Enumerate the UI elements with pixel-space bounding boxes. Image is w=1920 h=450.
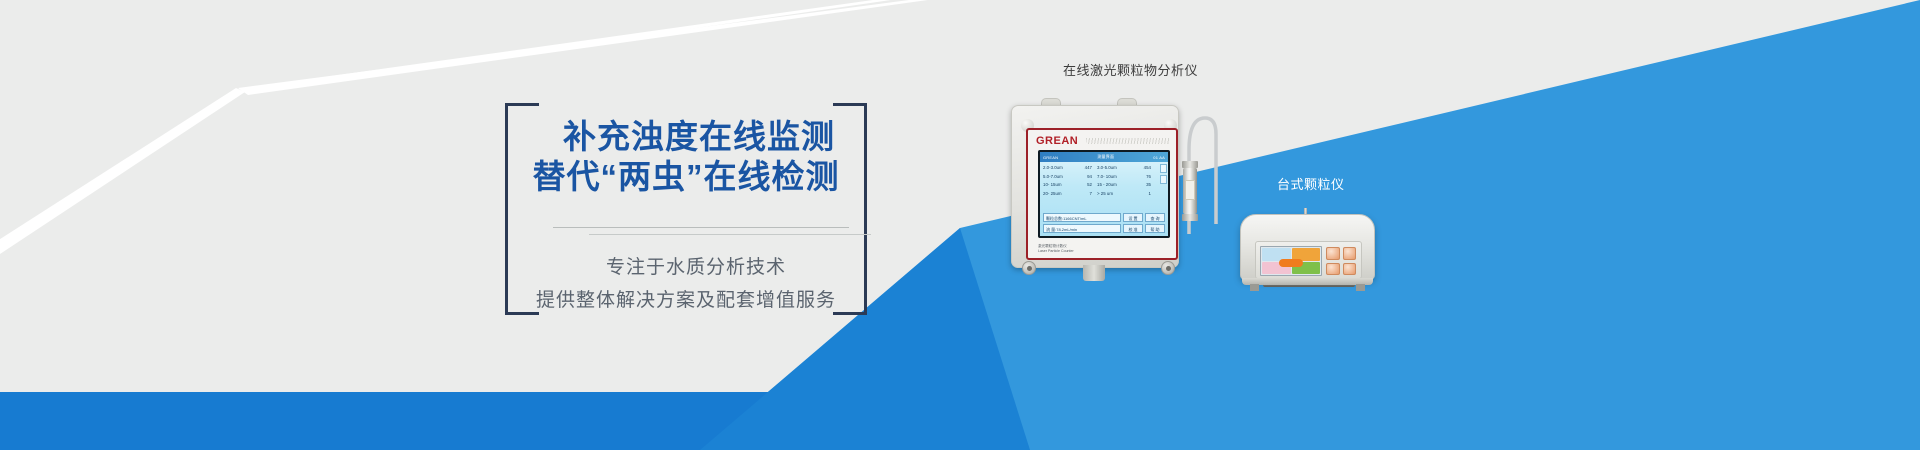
flow-rate-field: 流 量:78.2mL/min xyxy=(1043,224,1121,233)
headline-block: 补充浊度在线监测 替代“两虫”在线检测 专注于水质分析技术 提供整体解决方案及配… xyxy=(505,103,867,315)
lcd-center-badge xyxy=(1279,259,1303,267)
panel-footer-text: 激光颗粒物计数仪 Laser Particle Counter xyxy=(1038,244,1074,254)
lcd-button-query[interactable]: 查 询 xyxy=(1145,213,1165,222)
lcd-data-row: 2.0-3.0um 447 3.0-5.0um 454 xyxy=(1043,164,1165,173)
label-bench-unit: 台式颗粒仪 xyxy=(1277,174,1345,193)
background-graphics xyxy=(0,0,1920,450)
size-range: 20- 25um xyxy=(1043,190,1077,199)
bench-unit-image xyxy=(1240,208,1375,296)
lcd-titlebar: GREAN 测量界面 01 AA xyxy=(1040,152,1168,162)
divider-lower xyxy=(589,234,871,235)
subtitle-line-1: 专注于水质分析技术 xyxy=(505,251,867,284)
panel-footer-en: Laser Particle Counter xyxy=(1038,249,1074,254)
count-value: 94 xyxy=(1077,173,1097,182)
lcd-data-row: 5.0-7.0um 94 7.0- 10um 76 xyxy=(1043,173,1165,182)
count-value: 52 xyxy=(1077,181,1097,190)
lcd-footer-row: 流 量:78.2mL/min 校 准 帮 助 xyxy=(1043,224,1165,233)
brand-logo: GREAN xyxy=(1036,135,1078,147)
bench-key[interactable] xyxy=(1343,263,1357,276)
bench-key[interactable] xyxy=(1326,263,1340,276)
bench-base xyxy=(1242,278,1373,285)
bench-enclosure xyxy=(1240,214,1375,280)
lcd-side-buttons[interactable] xyxy=(1160,164,1167,186)
subtitle-line-2: 提供整体解决方案及配套增值服务 xyxy=(505,284,867,317)
lcd-footer-row: 颗粒总数:1166CNT/mL 设 置 查 询 xyxy=(1043,213,1165,222)
subtitle: 专注于水质分析技术 提供整体解决方案及配套增值服务 xyxy=(505,251,867,318)
enclosure-screw xyxy=(1161,261,1175,275)
divider-upper xyxy=(553,227,849,228)
lcd-status: 01 AA xyxy=(1153,155,1165,160)
bracket-gap-top xyxy=(539,103,833,106)
size-range: 5.0-7.0um xyxy=(1043,173,1077,182)
bench-key[interactable] xyxy=(1343,247,1357,260)
enclosure-screw xyxy=(1022,261,1036,275)
lcd-data-grid: 2.0-3.0um 447 3.0-5.0um 454 5.0-7.0um 94… xyxy=(1040,162,1168,198)
bench-foot xyxy=(1356,284,1365,291)
size-range: 7.0- 10um xyxy=(1097,173,1131,182)
size-range: 15 - 20um xyxy=(1097,181,1131,190)
lcd-side-button[interactable] xyxy=(1160,175,1167,184)
panel-hatch-pattern xyxy=(1086,138,1170,144)
bench-front-panel xyxy=(1255,241,1362,279)
headline-line-2: 替代“两虫”在线检测 xyxy=(505,157,867,197)
count-value: 35 xyxy=(1131,181,1151,190)
lcd-brand: GREAN xyxy=(1043,155,1058,160)
size-range: 3.0-5.0um xyxy=(1097,164,1131,173)
size-range: > 25 um xyxy=(1097,190,1131,199)
count-value: 76 xyxy=(1131,173,1151,182)
analyzer-enclosure: GREAN GREAN 测量界面 01 AA 2.0-3.0um 447 xyxy=(1011,105,1179,268)
lcd-data-row: 20- 25um 7 > 25 um 1 xyxy=(1043,190,1165,199)
headline: 补充浊度在线监测 替代“两虫”在线检测 xyxy=(505,117,867,198)
bench-foot xyxy=(1250,284,1259,291)
size-range: 2.0-3.0um xyxy=(1043,164,1077,173)
probe-cap-top xyxy=(1182,161,1198,168)
analyzer-lcd: GREAN 测量界面 01 AA 2.0-3.0um 447 3.0-5.0um… xyxy=(1038,150,1170,238)
label-online-analyzer: 在线激光颗粒物分析仪 xyxy=(1063,60,1198,79)
probe-body xyxy=(1183,168,1197,214)
total-count-field: 颗粒总数:1166CNT/mL xyxy=(1043,213,1121,222)
headline-line-1: 补充浊度在线监测 xyxy=(505,117,867,157)
lcd-button-help[interactable]: 帮 助 xyxy=(1145,224,1165,233)
lcd-title: 测量界面 xyxy=(1097,154,1114,160)
analyzer-front-panel: GREAN GREAN 测量界面 01 AA 2.0-3.0um 447 xyxy=(1026,128,1178,260)
count-value: 7 xyxy=(1077,190,1097,199)
lcd-footer: 颗粒总数:1166CNT/mL 设 置 查 询 流 量:78.2mL/min 校… xyxy=(1043,211,1165,233)
bench-lcd xyxy=(1260,246,1322,276)
count-value: 447 xyxy=(1077,164,1097,173)
enclosure-cable-gland xyxy=(1083,265,1105,281)
size-range: 10- 15um xyxy=(1043,181,1077,190)
probe-cap-bottom xyxy=(1182,214,1198,221)
bench-keypad[interactable] xyxy=(1326,247,1356,275)
lcd-side-button[interactable] xyxy=(1160,164,1167,173)
lcd-data-row: 10- 15um 52 15 - 20um 35 xyxy=(1043,181,1165,190)
lcd-button-settings[interactable]: 设 置 xyxy=(1123,213,1143,222)
count-value: 1 xyxy=(1131,190,1151,199)
probe-label xyxy=(1185,180,1195,200)
online-analyzer-image: GREAN GREAN 测量界面 01 AA 2.0-3.0um 447 xyxy=(1005,95,1185,280)
lcd-button-calibrate[interactable]: 校 准 xyxy=(1123,224,1143,233)
promo-banner: 补充浊度在线监测 替代“两虫”在线检测 专注于水质分析技术 提供整体解决方案及配… xyxy=(0,0,1920,450)
count-value: 454 xyxy=(1131,164,1151,173)
bench-key[interactable] xyxy=(1326,247,1340,260)
